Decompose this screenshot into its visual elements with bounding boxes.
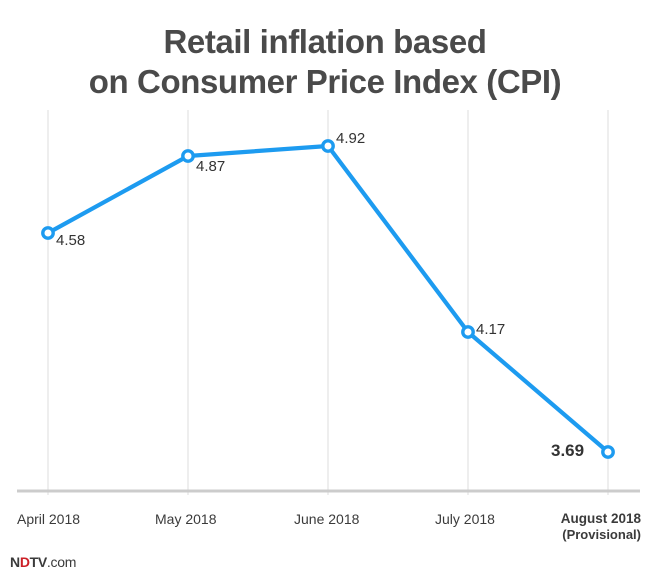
logo-domain: .com <box>47 554 76 570</box>
data-label-august: 3.69 <box>551 441 584 461</box>
x-tick-may: May 2018 <box>155 511 216 527</box>
data-label-june: 4.92 <box>336 130 365 147</box>
data-point-april[interactable] <box>43 228 53 238</box>
ndtv-logo[interactable]: NDTV.com <box>10 554 76 570</box>
page-title: Retail inflation based on Consumer Price… <box>0 22 650 102</box>
x-tick-august-sub: (Provisional) <box>543 527 641 543</box>
x-tick-august-main: August 2018 <box>561 511 641 526</box>
x-tick-april: April 2018 <box>17 511 80 527</box>
x-tick-june: June 2018 <box>294 511 359 527</box>
logo-letters-tv: TV <box>30 554 47 570</box>
data-label-may: 4.87 <box>196 158 225 175</box>
title-line-1: Retail inflation based <box>0 22 650 62</box>
gridlines <box>48 110 608 495</box>
x-tick-august: August 2018 (Provisional) <box>543 511 641 543</box>
data-point-august[interactable] <box>603 447 613 457</box>
data-point-may[interactable] <box>183 151 193 161</box>
title-line-2: on Consumer Price Index (CPI) <box>0 62 650 102</box>
logo-letter-d: D <box>20 554 30 570</box>
data-label-july: 4.17 <box>476 321 505 338</box>
data-label-april: 4.58 <box>56 232 85 249</box>
x-tick-july: July 2018 <box>435 511 495 527</box>
chart-plot-area: 4.58 4.87 4.92 4.17 3.69 <box>0 110 650 495</box>
data-point-june[interactable] <box>323 141 333 151</box>
x-axis-labels: April 2018 May 2018 June 2018 July 2018 … <box>0 505 650 550</box>
infographic-canvas: Retail inflation based on Consumer Price… <box>0 0 650 585</box>
logo-letter-n: N <box>10 554 20 570</box>
data-point-july[interactable] <box>463 327 473 337</box>
